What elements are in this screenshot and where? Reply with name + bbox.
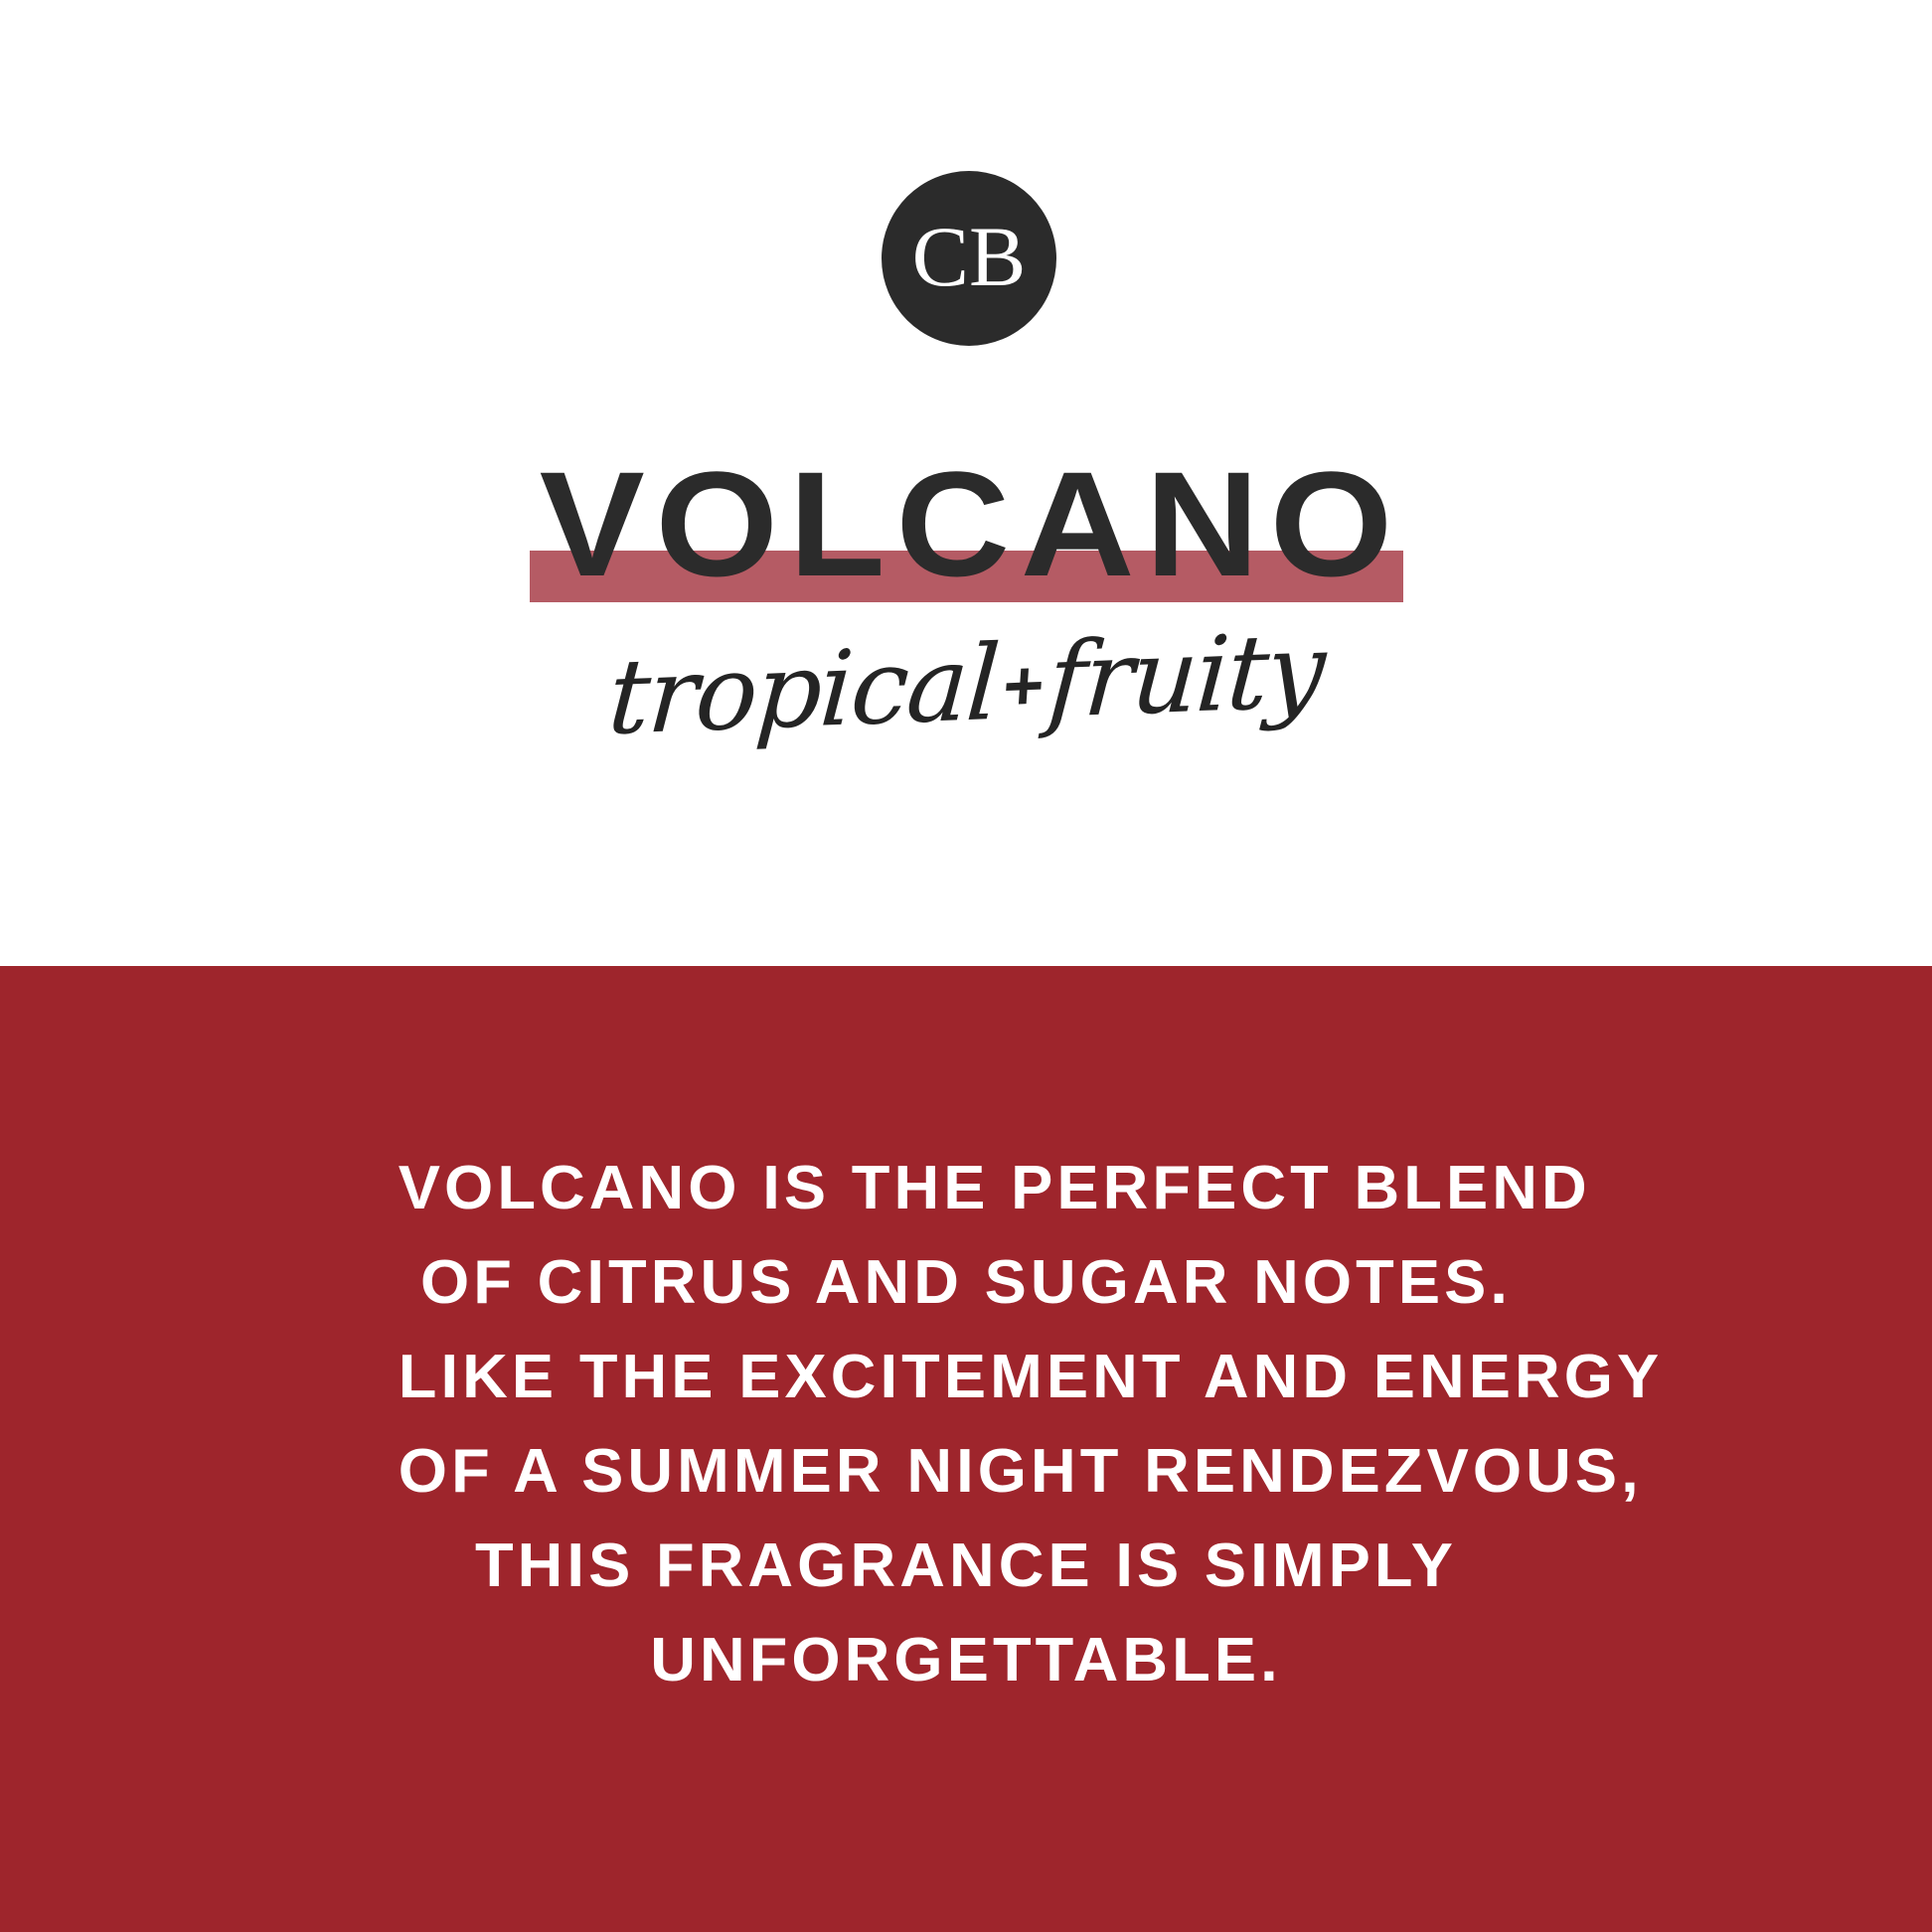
description-line: OF A SUMMER NIGHT RENDEZVOUS, [399, 1424, 1533, 1519]
scent-note-secondary: fruity [1045, 609, 1328, 741]
product-description: VOLCANO IS THE PERFECT BLEND OF CITRUS A… [399, 1141, 1533, 1707]
scent-note-separator: + [995, 646, 1050, 725]
description-line: UNFORGETTABLE. [399, 1613, 1533, 1707]
brand-monogram-text: CB [912, 214, 1027, 299]
description-section: VOLCANO IS THE PERFECT BLEND OF CITRUS A… [0, 966, 1932, 1932]
description-line: THIS FRAGRANCE IS SIMPLY [399, 1519, 1533, 1613]
brand-logo-badge: CB [882, 171, 1056, 346]
description-line: OF CITRUS AND SUGAR NOTES. [399, 1235, 1533, 1330]
scent-note-primary: tropical [605, 622, 1002, 758]
description-line: VOLCANO IS THE PERFECT BLEND [399, 1141, 1533, 1235]
product-title-block: VOLCANO [0, 449, 1932, 618]
header-section: CB VOLCANO tropical+fruity [0, 0, 1932, 966]
description-line: LIKE THE EXCITEMENT AND ENERGY [399, 1330, 1533, 1424]
product-poster: CB VOLCANO tropical+fruity VOLCANO IS TH… [0, 0, 1932, 1932]
product-title: VOLCANO [0, 449, 1932, 598]
